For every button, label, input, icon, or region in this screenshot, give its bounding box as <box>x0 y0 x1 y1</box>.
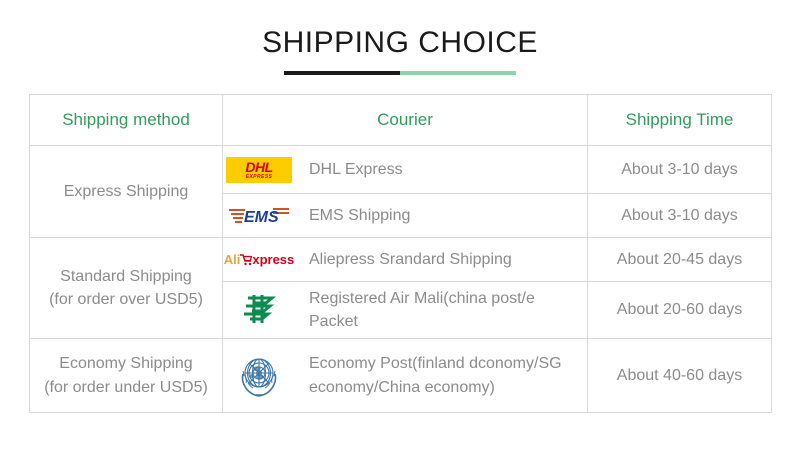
ems-logo: EMS <box>226 203 292 229</box>
time-cell: About 20-60 days <box>588 282 772 339</box>
shipping-table-wrapper: Shipping method Courier Shipping Time Ex… <box>29 94 771 413</box>
time-cell: About 20-45 days <box>588 238 772 282</box>
logo-slot <box>223 290 295 330</box>
method-cell-standard: Standard Shipping (for order over USD5) <box>30 238 223 339</box>
courier-cell-china-post: Registered Air Mali(china post/e Packet <box>223 282 588 339</box>
aliexpress-logo: Ali xpress <box>224 253 295 267</box>
courier-label: Economy Post(finland dconomy/SG economy/… <box>309 352 587 398</box>
table-body: Express Shipping DHL EXPRESS DHL Express <box>30 146 772 413</box>
courier-label: Aliepress Srandard Shipping <box>309 248 512 271</box>
shipping-choice-page: SHIPPING CHOICE Shipping method Courier … <box>0 0 800 462</box>
courier-cell-aliexpress: Ali xpress Ali <box>223 238 588 282</box>
title-underline-green-segment <box>400 71 516 75</box>
table-header: Shipping method Courier Shipping Time <box>30 95 772 146</box>
courier-cell-united-nations: Economy Post(finland dconomy/SG economy/… <box>223 339 588 413</box>
column-header-shipping-method: Shipping method <box>30 95 223 146</box>
time-cell: About 40-60 days <box>588 339 772 413</box>
table-row: Standard Shipping (for order over USD5) … <box>30 238 772 282</box>
logo-slot: EMS <box>223 203 295 229</box>
column-header-courier: Courier <box>223 95 588 146</box>
courier-label: EMS Shipping <box>309 204 410 227</box>
page-title: SHIPPING CHOICE <box>0 26 800 59</box>
aliexpress-logo-xpress: xpress <box>252 253 294 266</box>
method-cell-express: Express Shipping <box>30 146 223 238</box>
shopping-cart-icon <box>239 253 253 267</box>
courier-label: DHL Express <box>309 158 403 181</box>
aliexpress-logo-ali: Ali <box>224 253 241 266</box>
method-label-line2: (for order under USD5) <box>30 376 222 399</box>
column-header-shipping-time: Shipping Time <box>588 95 772 146</box>
logo-slot: Ali xpress <box>223 253 295 267</box>
logo-slot: DHL EXPRESS <box>223 157 295 183</box>
time-cell: About 3-10 days <box>588 146 772 194</box>
svg-text:EMS: EMS <box>244 209 279 226</box>
dhl-logo-wordmark: DHL <box>245 160 272 174</box>
method-label-line1: Standard Shipping <box>30 265 222 288</box>
table-header-row: Shipping method Courier Shipping Time <box>30 95 772 146</box>
united-nations-logo <box>232 350 286 402</box>
shipping-table: Shipping method Courier Shipping Time Ex… <box>29 94 772 413</box>
ems-logo-graphic: EMS <box>227 204 291 228</box>
courier-cell-dhl: DHL EXPRESS DHL Express <box>223 146 588 194</box>
china-post-logo <box>238 290 280 330</box>
method-cell-economy: Economy Shipping (for order under USD5) <box>30 339 223 413</box>
title-block: SHIPPING CHOICE <box>0 0 800 75</box>
method-label-line1: Economy Shipping <box>30 352 222 375</box>
table-row: Express Shipping DHL EXPRESS DHL Express <box>30 146 772 194</box>
courier-label: Registered Air Mali(china post/e Packet <box>309 287 587 333</box>
courier-cell-ems: EMS EMS Shipping <box>223 194 588 238</box>
method-label-line1: Express Shipping <box>30 180 222 203</box>
time-cell: About 3-10 days <box>588 194 772 238</box>
table-row: Economy Shipping (for order under USD5) <box>30 339 772 413</box>
dhl-logo-subtext: EXPRESS <box>246 175 272 180</box>
title-underline <box>284 71 516 75</box>
title-underline-dark-segment <box>284 71 400 75</box>
dhl-logo: DHL EXPRESS <box>226 157 292 183</box>
logo-slot <box>223 350 295 402</box>
method-label-line2: (for order over USD5) <box>30 288 222 311</box>
